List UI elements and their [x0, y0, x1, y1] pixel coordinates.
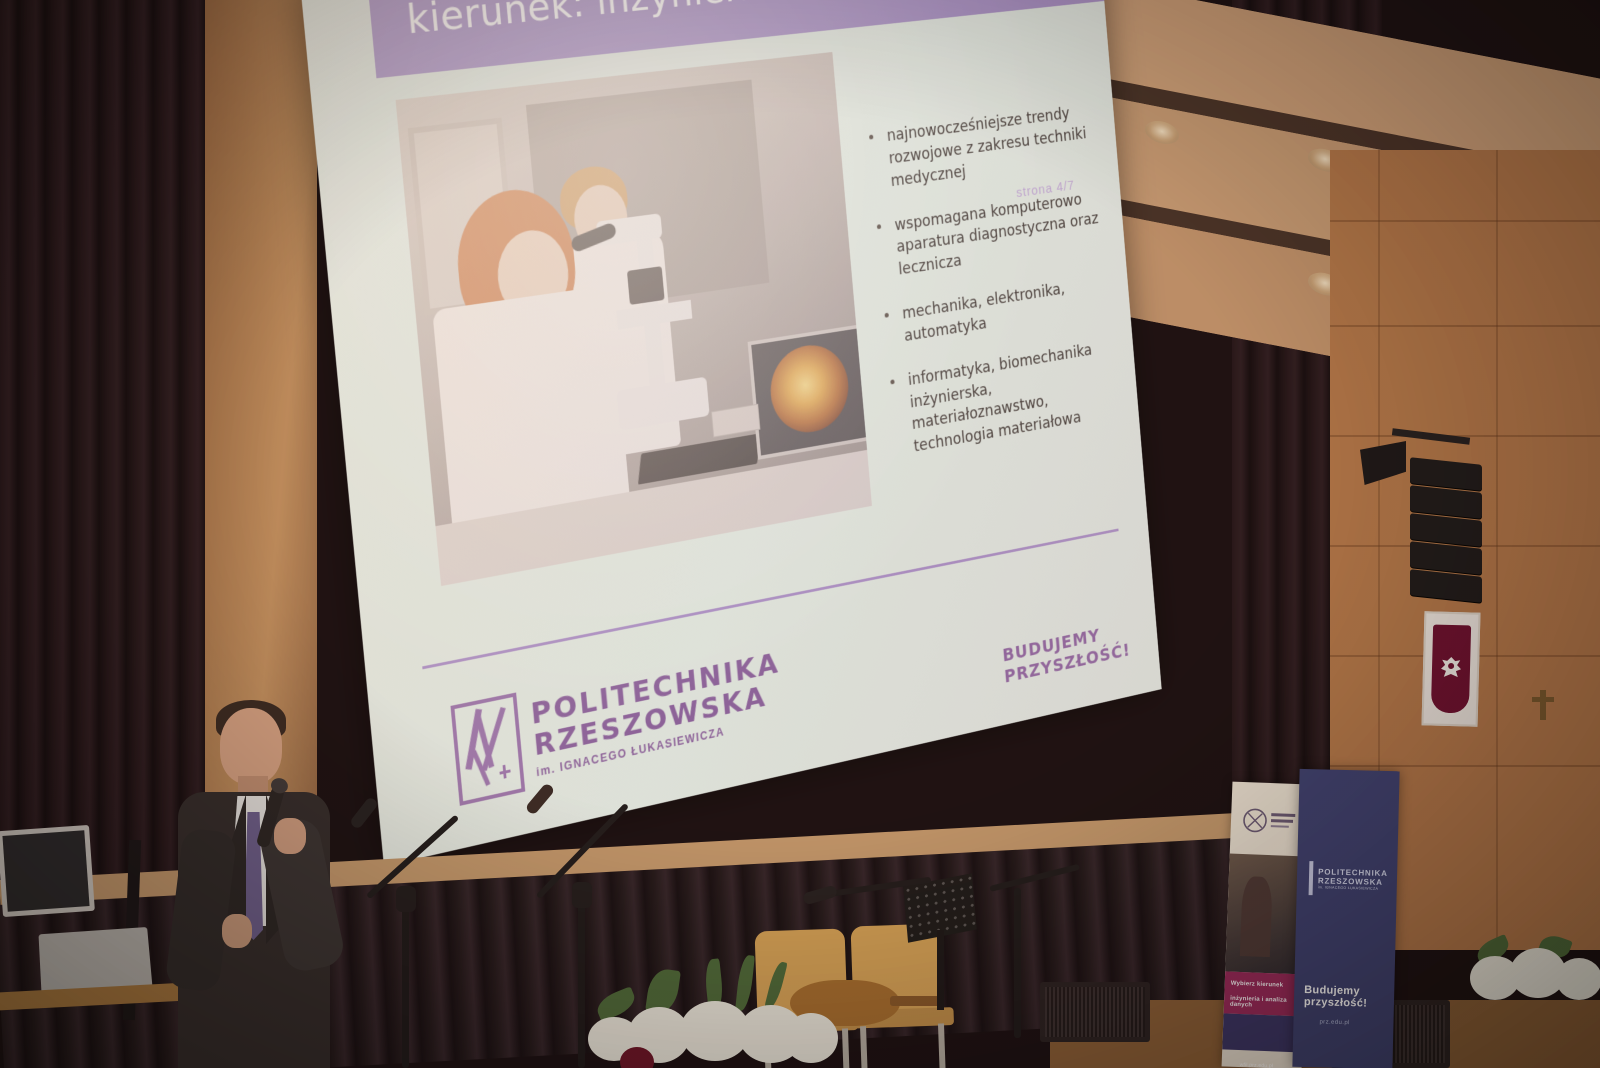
- list-item: informatyka, biomechanika inżynierska, m…: [886, 336, 1117, 462]
- list-item: mechanika, elektronika, automatyka: [881, 272, 1108, 351]
- banner-navy-wordmark: POLITECHNIKA RZESZOWSKA im. IGNACEGO ŁUK…: [1318, 867, 1388, 891]
- presenter-hand-right: [274, 818, 306, 854]
- mic-stand-clutch: [396, 886, 416, 912]
- crucifix-icon: [1540, 690, 1546, 720]
- slide-surface: kierunek: inżynieria w medycynie strona …: [300, 0, 1162, 866]
- logo-mark-icon: [450, 692, 525, 805]
- microphone-stand: [820, 868, 940, 1068]
- microphone-stand: [360, 790, 480, 1068]
- banner-navy-logo-line-3: im. IGNACEGO ŁUKASIEWICZA: [1318, 885, 1388, 891]
- banner-headline-line-1: Wybierz kierunek: [1231, 981, 1284, 989]
- av-monitor-screen: [2, 830, 89, 912]
- banner-photo-person: [1240, 876, 1273, 957]
- flower-leaf: [764, 960, 787, 1009]
- logo-mark-icon: [1309, 861, 1314, 895]
- page-title: kierunek: inżynieria w medycynie: [405, 0, 1004, 43]
- mic-stand-pole: [578, 888, 585, 1068]
- microphone-icon: [524, 782, 555, 816]
- stage-monitor-speaker: [1040, 982, 1150, 1042]
- av-monitor: [0, 825, 95, 917]
- list-item: wspomagana komputerowo aparatura diagnos…: [873, 186, 1103, 284]
- wall-seam: [1330, 220, 1600, 222]
- banner-navy-logo: POLITECHNIKA RZESZOWSKA im. IGNACEGO ŁUK…: [1309, 861, 1386, 897]
- wall-seam: [1330, 325, 1600, 327]
- flower-bloom: [784, 1013, 838, 1063]
- slide-photo-lab: [396, 52, 872, 586]
- speaker-grille: [1045, 987, 1145, 1037]
- projection-screen: kierunek: inżynieria w medycynie strona …: [300, 0, 1162, 866]
- logo-wordmark: POLITECHNIKA RZESZOWSKA im. IGNACEGO ŁUK…: [530, 648, 785, 779]
- mic-stand-boom: [822, 877, 932, 898]
- microphone-icon: [349, 796, 379, 830]
- line-array-speaker: [1392, 455, 1487, 630]
- banner-secondary-band: wfil.prz.edu.pl: [1222, 1013, 1303, 1052]
- polish-eagle-emblem: [1422, 611, 1481, 726]
- flower-arrangement-right: [1470, 930, 1600, 1050]
- auditorium-scene: kierunek: inżynieria w medycynie strona …: [0, 0, 1600, 1068]
- mic-stand-pole: [402, 890, 409, 1068]
- list-item: najnowocześniejsze trendy rozwojowe z za…: [865, 100, 1095, 195]
- flower-leaf: [735, 954, 755, 1011]
- banner-navy-tagline: Budujemy przyszłość!: [1304, 984, 1395, 1010]
- wall-seam: [1496, 150, 1498, 950]
- banner-footer: wfil.prz.edu.pl: [1240, 1062, 1274, 1068]
- university-logo: POLITECHNIKA RZESZOWSKA im. IGNACEGO ŁUK…: [450, 639, 785, 806]
- banner-navy-subtitle: prz.edu.pl: [1319, 1019, 1349, 1026]
- flower-arrangement: [588, 955, 838, 1068]
- rollup-banner-navy: POLITECHNIKA RZESZOWSKA im. IGNACEGO ŁUK…: [1292, 769, 1399, 1068]
- slide-tagline: BUDUJEMY PRZYSZŁOŚĆ!: [1002, 612, 1159, 687]
- presenter-hand-left: [222, 914, 252, 948]
- mic-stand-boom: [989, 864, 1080, 892]
- banner-logo-icon: [1240, 800, 1302, 850]
- eagle-icon: [1431, 625, 1471, 714]
- flower-bloom: [1556, 958, 1600, 1000]
- photo-color-tint: [396, 52, 872, 586]
- mic-stand-pole: [1014, 888, 1021, 1038]
- presenter: [168, 700, 338, 1068]
- mic-stand-clutch: [572, 882, 592, 908]
- slide-bullet-list: najnowocześniejsze trendy rozwojowe z za…: [865, 100, 1119, 484]
- presenter-head: [220, 708, 282, 784]
- speaker-module: [1410, 569, 1482, 603]
- wall-seam: [1330, 765, 1600, 767]
